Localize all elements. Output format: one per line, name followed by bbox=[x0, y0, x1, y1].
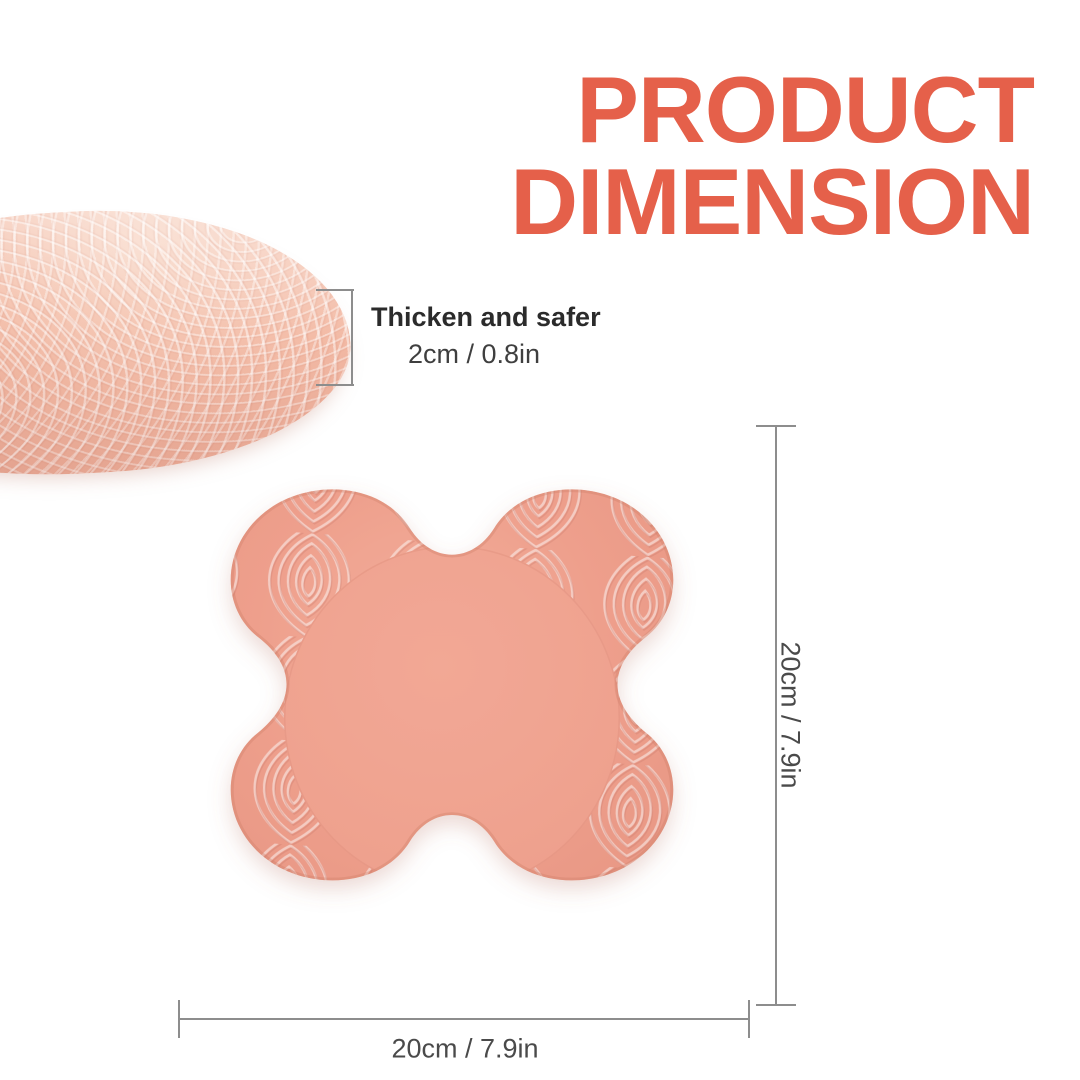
page-title-line-2: DIMENSION bbox=[510, 156, 1034, 248]
page-title-line-1: PRODUCT bbox=[510, 64, 1034, 156]
thickness-title-label: Thicken and safer bbox=[371, 302, 601, 333]
thickness-bottom-extension-line bbox=[316, 384, 354, 386]
product-pad-top-view bbox=[152, 418, 752, 1008]
thickness-top-extension-line bbox=[316, 289, 354, 291]
page-title: PRODUCT DIMENSION bbox=[510, 64, 1034, 248]
product-dimension-infographic: PRODUCT DIMENSION Thicken and safer 2cm … bbox=[0, 0, 1080, 1080]
width-dimension-line bbox=[179, 1018, 750, 1020]
height-bottom-tick bbox=[756, 1004, 796, 1006]
thickness-value-label: 2cm / 0.8in bbox=[408, 339, 540, 370]
height-value-label-wrapper: 20cm / 7.9in bbox=[775, 715, 806, 862]
product-pad-illustration bbox=[152, 418, 752, 1008]
width-value-label: 20cm / 7.9in bbox=[391, 1034, 538, 1065]
width-right-tick bbox=[748, 1000, 750, 1038]
height-value-label: 20cm / 7.9in bbox=[775, 641, 806, 788]
thickness-dimension-line bbox=[351, 290, 353, 386]
